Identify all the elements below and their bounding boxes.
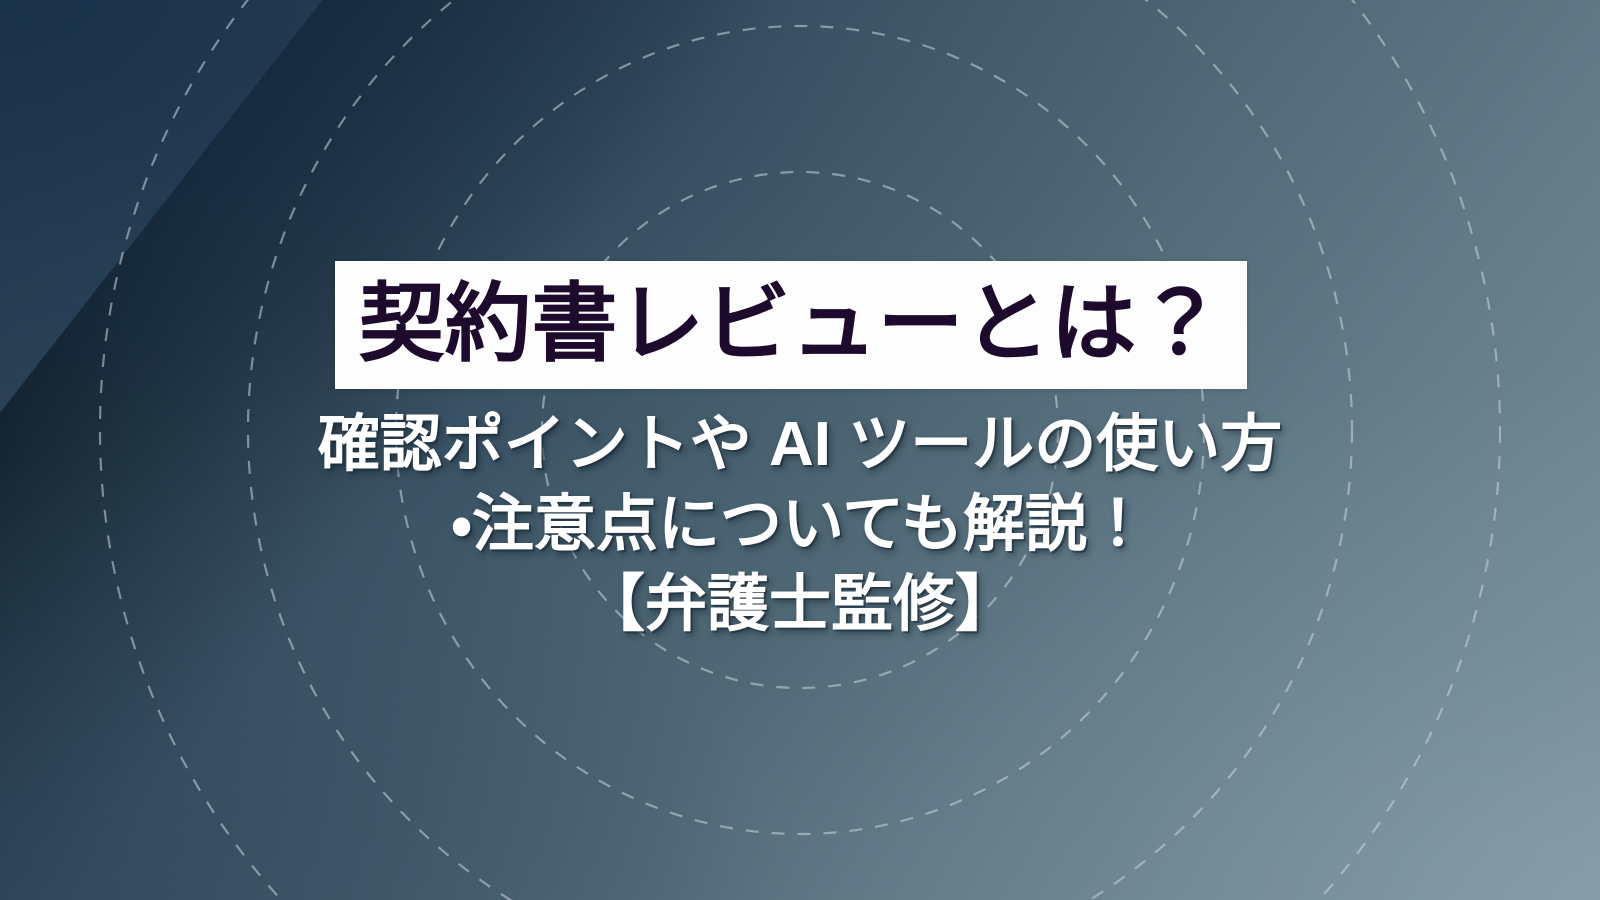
- subtitle-line-1: 確認ポイントや AI ツールの使い方: [0, 405, 1600, 485]
- subtitle-block: 確認ポイントや AI ツールの使い方 ・注意点についても解説！ 【弁護士監修】: [0, 405, 1600, 645]
- subtitle-line-2: ・注意点についても解説！: [0, 485, 1600, 565]
- title-banner: 契約書レビューとは？: [335, 261, 1247, 389]
- subtitle-line-3: 【弁護士監修】: [0, 565, 1600, 645]
- page-title: 契約書レビューとは？: [359, 281, 1224, 367]
- thumbnail-slide: 契約書レビューとは？ 確認ポイントや AI ツールの使い方 ・注意点についても解…: [0, 0, 1600, 900]
